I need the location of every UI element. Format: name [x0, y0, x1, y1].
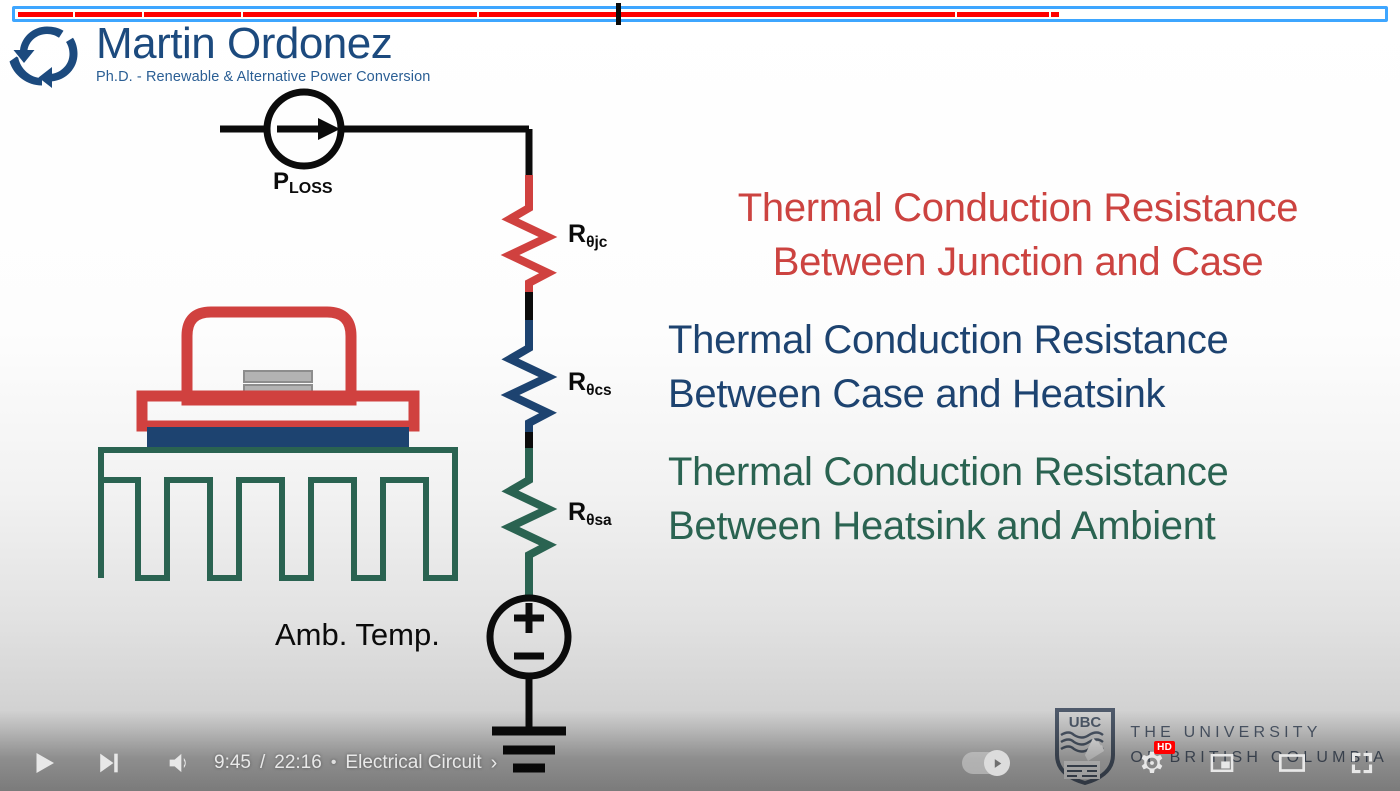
progress-chapter-fill — [18, 12, 73, 17]
progress-bar[interactable] — [0, 4, 1400, 24]
resistor-rthetacs — [510, 320, 548, 448]
progress-chapter-fill — [75, 12, 142, 17]
ploss-main: P — [273, 168, 289, 195]
volume-button[interactable] — [154, 739, 202, 787]
play-button[interactable] — [20, 739, 68, 787]
miniplayer-icon — [1208, 749, 1236, 777]
progress-chapter-fill — [957, 12, 1050, 17]
ploss-sub: LOSS — [289, 180, 333, 197]
ubc-shield-text: UBC — [1069, 714, 1102, 731]
autoplay-knob[interactable] — [984, 750, 1010, 776]
progress-chapter-segment[interactable] — [957, 12, 1050, 17]
current-source-ploss — [267, 92, 341, 166]
voltage-source-ambient — [490, 598, 568, 730]
miniplayer-button[interactable] — [1198, 739, 1246, 787]
progress-chapter-segment[interactable] — [479, 12, 955, 17]
duration: 22:16 — [274, 752, 322, 774]
resistor-label-rthetacs: Rθcs — [568, 370, 612, 395]
current-source-label: PLOSS — [273, 170, 333, 194]
annotation-column: Thermal Conduction Resistance Between Ju… — [668, 182, 1368, 554]
progress-chapter-segment[interactable] — [18, 12, 73, 17]
heatsink-fins — [101, 450, 455, 578]
progress-chapters[interactable] — [18, 12, 1382, 17]
progress-chapter-fill — [144, 12, 241, 17]
progress-chapter-segment[interactable] — [144, 12, 241, 17]
chapter-title[interactable]: Electrical Circuit — [345, 752, 481, 774]
progress-chapter-fill — [479, 12, 955, 17]
play-small-icon — [991, 757, 1004, 770]
progress-chapter-segment[interactable] — [1308, 12, 1382, 17]
progress-chapter-segment[interactable] — [1256, 12, 1306, 17]
next-icon — [94, 749, 122, 777]
video-player[interactable]: Martin Ordonez Ph.D. - Renewable & Alter… — [0, 0, 1400, 791]
thermal-interface-pad — [147, 427, 409, 449]
current-time: 9:45 — [214, 752, 251, 774]
annotation-junction-case: Thermal Conduction Resistance Between Ju… — [668, 182, 1368, 289]
settings-button[interactable]: HD — [1128, 739, 1176, 787]
annotation-heatsink-ambient: Thermal Conduction Resistance Between He… — [668, 446, 1368, 553]
resistor-rthetasa — [510, 448, 548, 598]
resistor-label-rthetasa: Rθsa — [568, 500, 612, 525]
ambient-temp-label: Amb. Temp. — [275, 617, 440, 653]
progress-chapter-segment[interactable] — [243, 12, 477, 17]
volume-icon — [163, 748, 193, 778]
next-video-button[interactable] — [84, 739, 132, 787]
annotation-case-heatsink: Thermal Conduction Resistance Between Ca… — [668, 314, 1368, 421]
quality-badge: HD — [1154, 741, 1175, 754]
junction-die-upper — [244, 371, 312, 382]
progress-chapter-fill — [243, 12, 477, 17]
autoplay-track[interactable] — [962, 752, 1008, 774]
bullet-separator: • — [331, 754, 337, 772]
progress-chapter-segment[interactable] — [1202, 12, 1254, 17]
fullscreen-icon — [1348, 749, 1376, 777]
chevron-right-icon[interactable]: › — [491, 752, 498, 775]
progress-chapter-segment[interactable] — [1145, 12, 1200, 17]
scrubber-handle[interactable] — [616, 3, 621, 25]
theater-icon — [1277, 748, 1307, 778]
progress-chapter-fill — [1051, 12, 1058, 17]
heatsink-assembly — [101, 312, 455, 578]
time-separator: / — [260, 752, 265, 774]
case-flange — [142, 396, 414, 426]
play-icon — [29, 748, 59, 778]
time-and-chapter: 9:45 / 22:16 • Electrical Circuit › — [214, 752, 497, 775]
resistor-label-rthetajc: Rθjc — [568, 222, 607, 247]
video-stage[interactable]: Martin Ordonez Ph.D. - Renewable & Alter… — [0, 0, 1400, 791]
progress-chapter-segment[interactable] — [1051, 12, 1142, 17]
progress-chapter-segment[interactable] — [75, 12, 142, 17]
player-controls[interactable]: 9:45 / 22:16 • Electrical Circuit › HD — [0, 735, 1400, 791]
fullscreen-button[interactable] — [1338, 739, 1386, 787]
theater-mode-button[interactable] — [1268, 739, 1316, 787]
resistor-rthetajc — [510, 175, 548, 320]
autoplay-toggle[interactable] — [954, 739, 1016, 787]
